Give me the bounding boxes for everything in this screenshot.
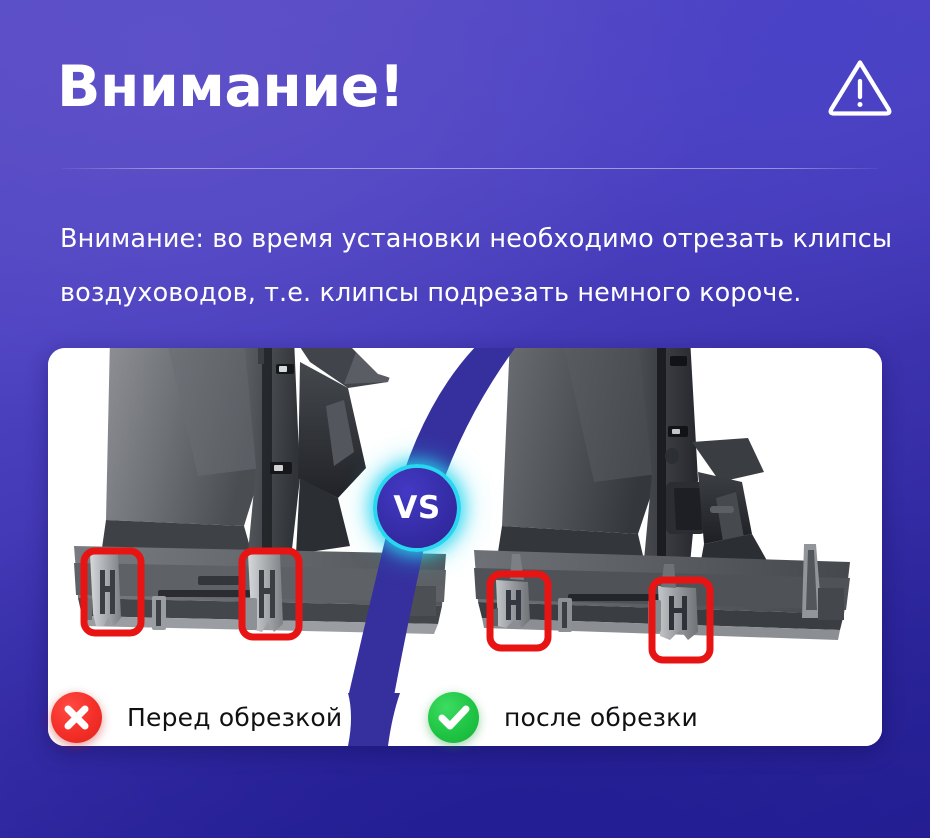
vs-core: VS — [377, 468, 457, 548]
notice-paragraph: Внимание: во время установки необходимо … — [60, 212, 882, 320]
warning-triangle-icon — [826, 56, 894, 118]
cross-circle-icon — [51, 692, 102, 743]
vs-badge: VS — [373, 464, 461, 552]
notice-line-1: Внимание: во время установки необходимо … — [60, 212, 882, 266]
notice-line-2: воздуховодов, т.е. клипсы подрезать немн… — [60, 266, 882, 320]
after-photo — [452, 348, 882, 693]
header: Внимание! — [0, 0, 930, 170]
comparison-card — [48, 348, 882, 746]
poster-root: Внимание! Внимание: во время установки н… — [0, 0, 930, 838]
after-caption: после обрезки — [504, 703, 698, 732]
page-title: Внимание! — [57, 58, 404, 118]
vs-label: VS — [393, 490, 440, 526]
check-circle-icon — [428, 692, 479, 743]
before-caption: Перед обрезкой — [127, 703, 342, 732]
header-divider — [62, 168, 878, 169]
after-photo-pane — [452, 348, 882, 693]
before-label-group: Перед обрезкой — [51, 692, 342, 743]
after-label-group: после обрезки — [428, 692, 698, 743]
